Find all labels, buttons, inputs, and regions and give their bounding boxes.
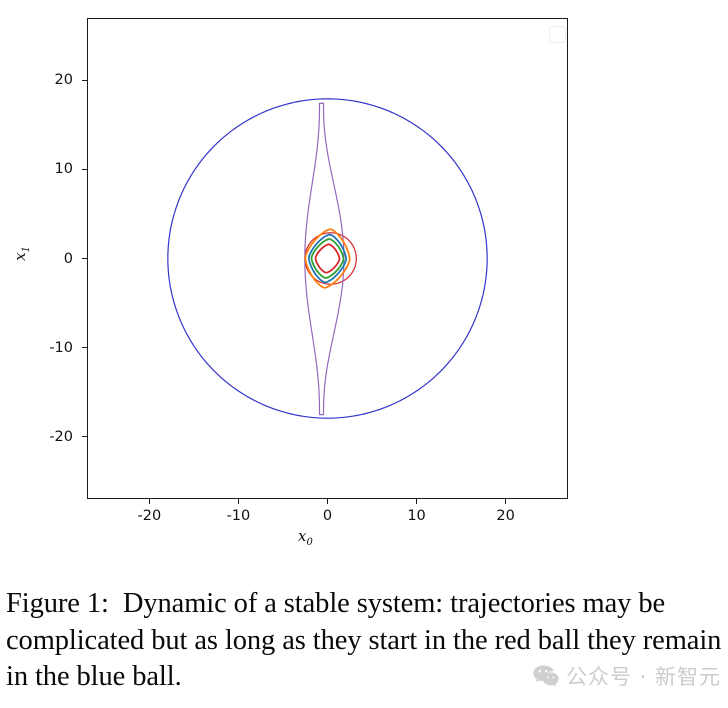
trajectory-purple <box>305 103 344 414</box>
y-tick-label: 20 <box>27 73 73 88</box>
caption-figure-number: Figure 1: <box>6 588 123 619</box>
plot-area <box>87 18 568 499</box>
plot-canvas <box>88 19 567 498</box>
x-tick-mark <box>505 499 506 504</box>
watermark-text: 公众号 · 新智元 <box>566 661 721 691</box>
x-tick-mark <box>149 499 150 504</box>
x-tick-mark <box>327 499 328 504</box>
y-tick-mark <box>82 258 87 259</box>
y-tick-label: -10 <box>27 341 73 356</box>
x-tick-label: 0 <box>298 509 358 524</box>
x-tick-label: 20 <box>476 509 536 524</box>
wechat-watermark: 公众号 · 新智元 <box>533 661 721 691</box>
figure-panel: 20100-10-20 -20-1001020 x1 x0 <box>0 0 728 566</box>
x-tick-mark <box>238 499 239 504</box>
x-tick-label: -10 <box>208 509 268 524</box>
y-tick-mark <box>82 436 87 437</box>
x-tick-label: -20 <box>119 509 179 524</box>
y-tick-label: 10 <box>27 162 73 177</box>
y-axis-label: x1 <box>11 246 32 261</box>
trajectory-red-inner <box>316 244 340 272</box>
blue-ball <box>168 99 487 418</box>
empty-legend-box[interactable] <box>549 26 566 43</box>
y-tick-mark <box>82 169 87 170</box>
wechat-icon <box>533 665 559 687</box>
x-axis-label: x0 <box>298 527 313 548</box>
y-tick-mark <box>82 80 87 81</box>
y-tick-label: -20 <box>27 430 73 445</box>
x-axis-label-text: x0 <box>298 527 313 545</box>
y-tick-label: 0 <box>27 252 73 267</box>
x-tick-mark <box>416 499 417 504</box>
y-axis-label-text: x1 <box>11 246 29 261</box>
trajectory-curves <box>168 99 487 418</box>
x-tick-label: 10 <box>387 509 447 524</box>
y-tick-mark <box>82 347 87 348</box>
